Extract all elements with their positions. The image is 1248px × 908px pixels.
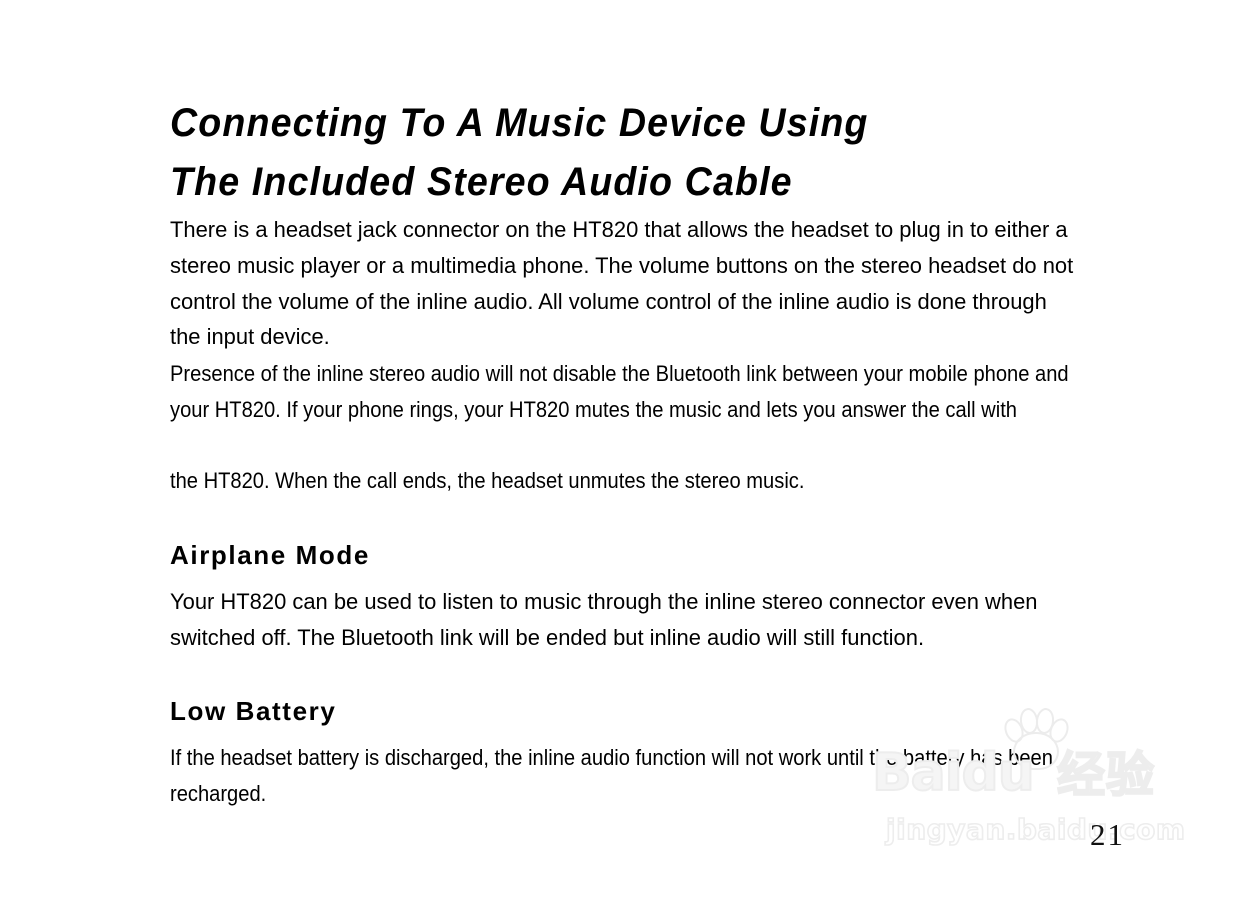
- page-title-line-2: The Included Stereo Audio Cable: [170, 152, 793, 212]
- page-title-line-1: Connecting To A Music Device Using: [170, 93, 869, 153]
- section-heading-airplane-mode: Airplane Mode: [170, 539, 370, 571]
- paragraph-presence: Presence of the inline stereo audio will…: [170, 356, 1080, 428]
- paragraph-intro: There is a headset jack connector on the…: [170, 212, 1081, 355]
- paragraph-low-battery: If the headset battery is discharged, th…: [170, 740, 1080, 812]
- section-heading-low-battery: Low Battery: [170, 695, 336, 727]
- watermark-url: jingyan.baidu.com: [886, 814, 1186, 846]
- paragraph-airplane-mode: Your HT820 can be used to listen to musi…: [170, 584, 1081, 656]
- document-page: Connecting To A Music Device Using The I…: [0, 0, 1248, 908]
- page-number: 21: [1090, 818, 1125, 852]
- paragraph-call-ends: the HT820. When the call ends, the heads…: [170, 463, 1080, 499]
- paw-toe-3: [1034, 707, 1055, 735]
- paw-toe-2: [1018, 707, 1039, 735]
